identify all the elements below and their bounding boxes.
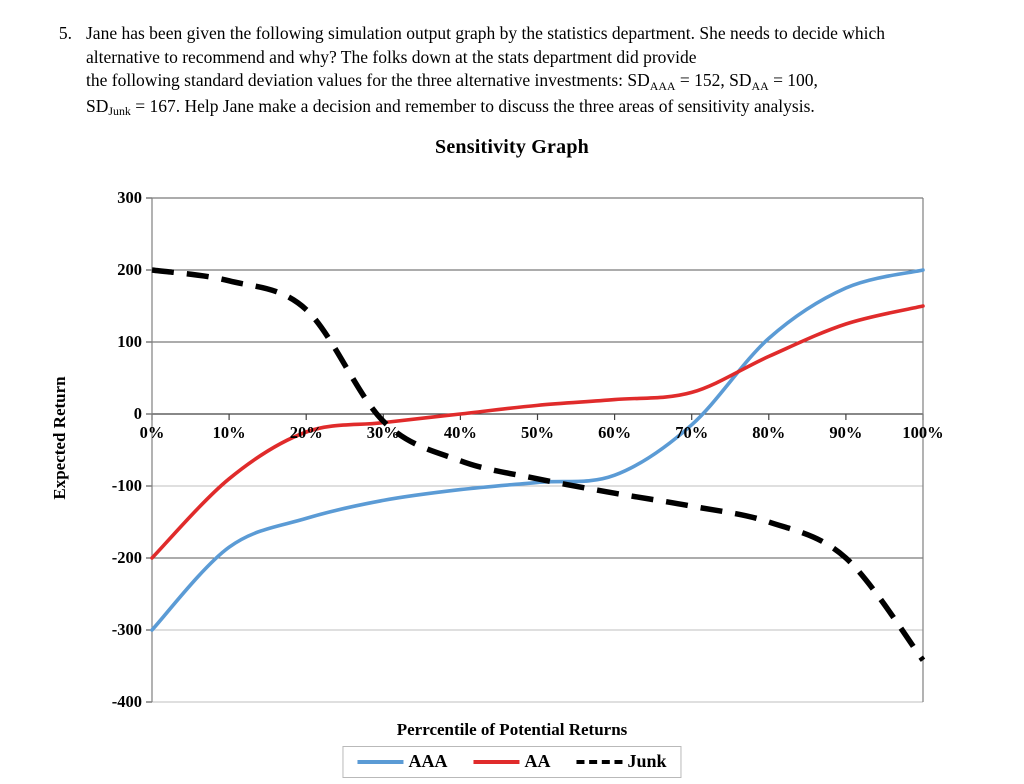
sd-aaa-subscript: AAA (650, 79, 676, 93)
y-axis-title: Expected Return (50, 338, 70, 538)
x-axis-title: Perrcentile of Potential Returns (0, 720, 1024, 740)
question-text: Jane has been given the following simula… (86, 22, 941, 120)
question-number: 5. (0, 22, 86, 46)
x-tick-label-80: 80% (752, 423, 785, 443)
legend-item-aaa[interactable]: AAA (357, 751, 447, 772)
legend-label-junk: Junk (627, 751, 666, 772)
question-line-4: SDJunk = 167. Help Jane make a decision … (86, 96, 815, 116)
x-axis-tick-labels: 0%10%20%30%40%50%60%70%80%90%100% (0, 128, 1024, 784)
x-tick-label-20: 20% (290, 423, 323, 443)
legend-item-junk[interactable]: Junk (576, 751, 666, 772)
x-tick-label-50: 50% (521, 423, 554, 443)
x-tick-label-10: 10% (213, 423, 246, 443)
x-tick-label-0: 0% (140, 423, 165, 443)
sd-junk-subscript: Junk (108, 104, 130, 118)
legend-label-aaa: AAA (408, 751, 447, 772)
x-tick-label-60: 60% (598, 423, 631, 443)
x-tick-label-30: 30% (367, 423, 400, 443)
x-tick-label-90: 90% (829, 423, 862, 443)
x-tick-label-70: 70% (675, 423, 708, 443)
question-line-3: the following standard deviation values … (86, 70, 818, 90)
sensitivity-chart: Sensitivity Graph 3002001000-100-200-300… (0, 128, 1024, 784)
chart-legend: AAAAAJunk (342, 746, 681, 778)
x-tick-label-100: 100% (902, 423, 943, 443)
legend-swatch-junk (576, 760, 622, 764)
question-line-1: Jane has been given the following simula… (86, 23, 788, 43)
legend-swatch-aa (473, 760, 519, 764)
question-block: 5. Jane has been given the following sim… (0, 0, 1024, 120)
sd-aa-subscript: AA (752, 79, 769, 93)
x-tick-label-40: 40% (444, 423, 477, 443)
legend-item-aa[interactable]: AA (473, 751, 550, 772)
legend-swatch-aaa (357, 760, 403, 764)
legend-label-aa: AA (524, 751, 550, 772)
